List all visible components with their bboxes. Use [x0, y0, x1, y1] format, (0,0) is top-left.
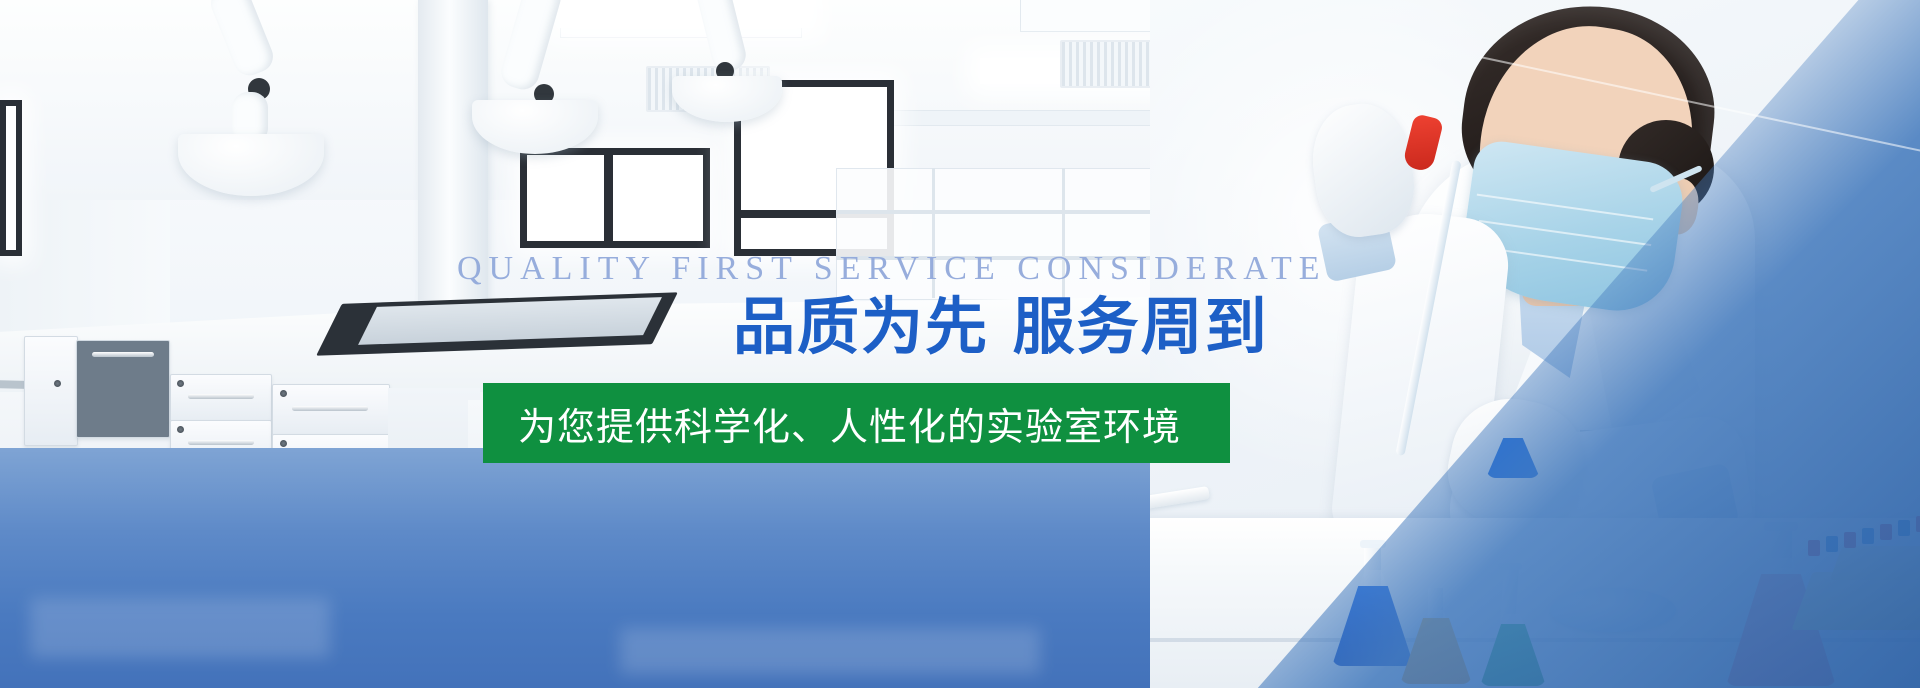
tagline-english: QUALITY FIRST SERVICE CONSIDERATE — [457, 250, 1327, 288]
bench-drawer[interactable] — [24, 336, 78, 446]
drawer-lock-icon — [280, 390, 287, 397]
window-mullion — [604, 148, 613, 248]
window — [520, 148, 710, 248]
drawer-handle[interactable] — [188, 440, 254, 445]
floor-reflection — [30, 598, 330, 658]
drawer-lock-icon — [280, 440, 287, 447]
headline-chinese: 品质为先 服务周到 — [733, 292, 1269, 361]
drawer-handle[interactable] — [292, 406, 368, 411]
floor-reflection — [620, 628, 1040, 674]
drawer-lock-icon — [54, 380, 61, 387]
drawer-lock-icon — [177, 426, 184, 433]
window — [0, 100, 22, 256]
subline-green-bar: 为您提供科学化、人性化的实验室环境 — [483, 383, 1230, 463]
drawer-handle[interactable] — [92, 352, 154, 357]
drawer-lock-icon — [177, 380, 184, 387]
ceiling-light-panel — [560, 0, 810, 28]
drawer-handle[interactable] — [188, 394, 254, 399]
subline-chinese: 为您提供科学化、人性化的实验室环境 — [483, 396, 1181, 451]
hero-banner: QUALITY FIRST SERVICE CONSIDERATE 品质为先 服… — [0, 0, 1920, 688]
